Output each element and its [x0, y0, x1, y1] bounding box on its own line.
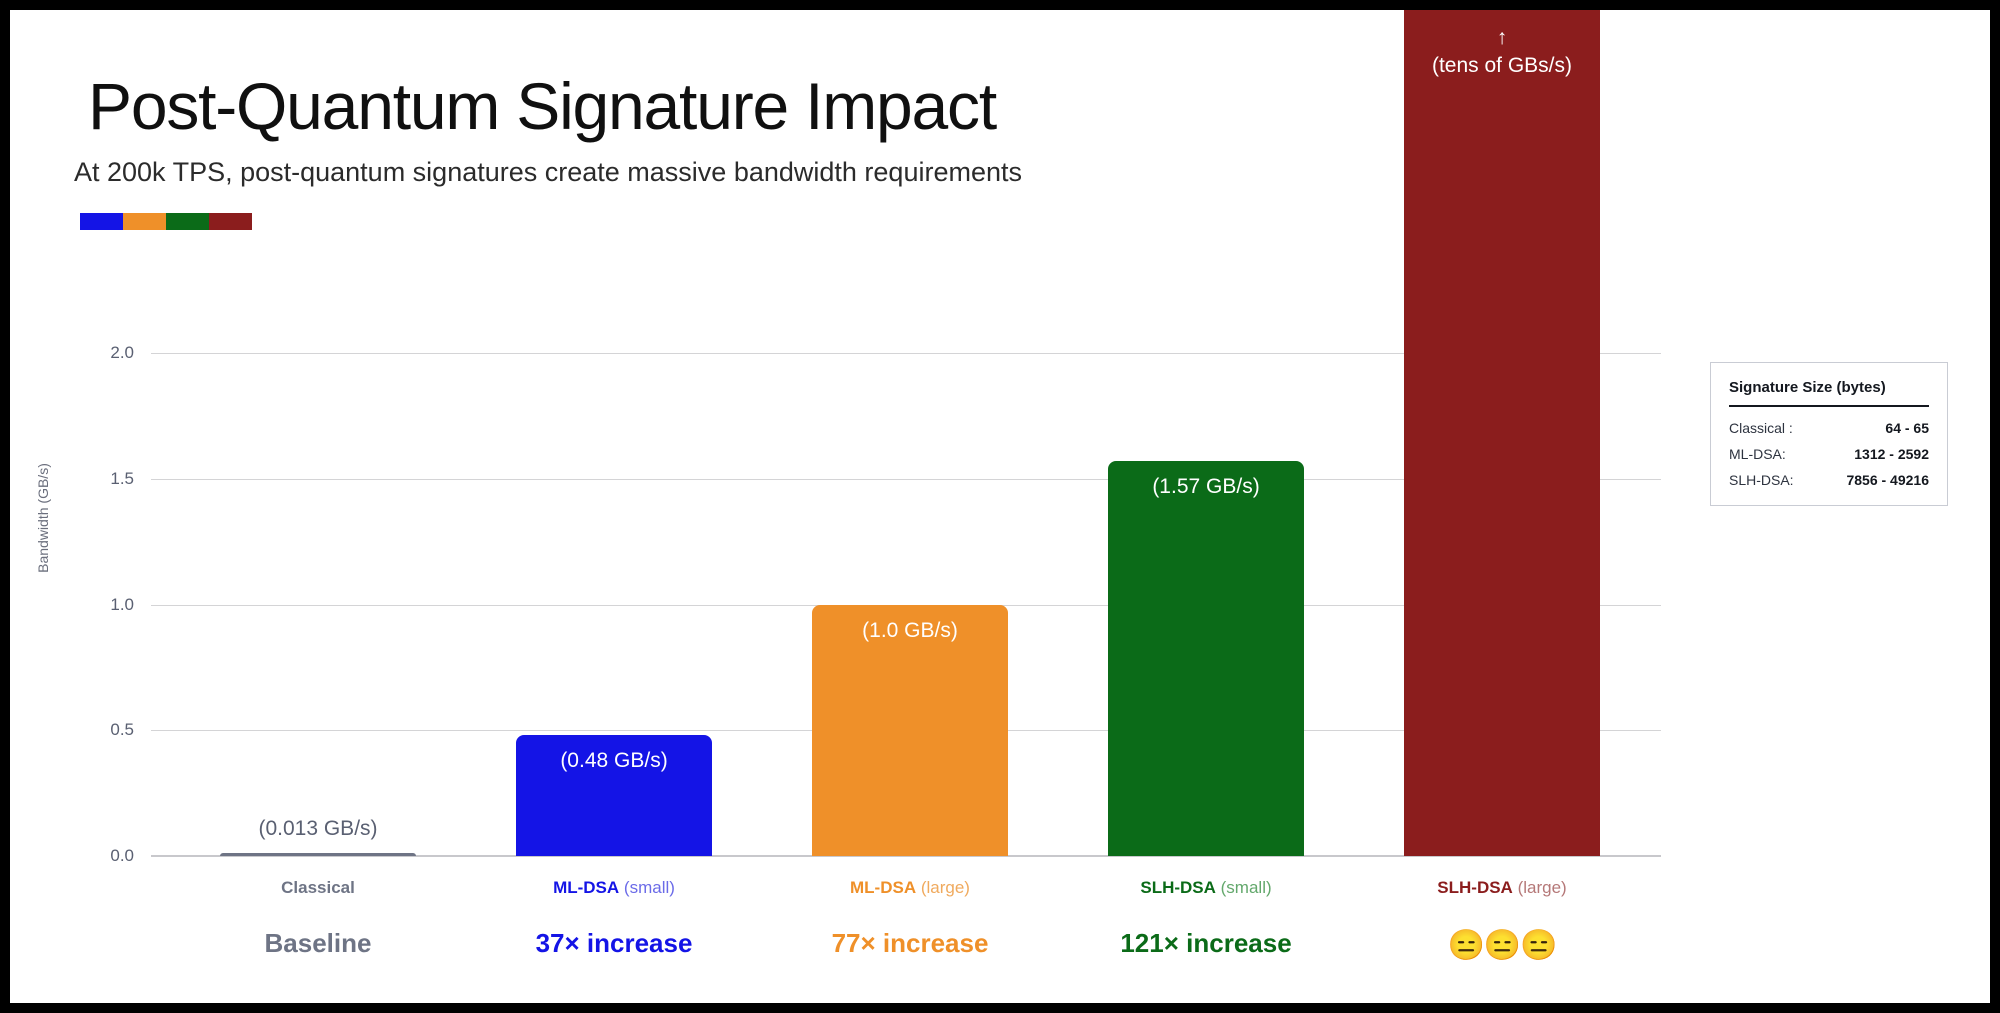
category-name: ML-DSA: [553, 878, 619, 897]
category-name: ML-DSA: [850, 878, 916, 897]
legend-rows: Classical :64 - 65ML-DSA:1312 - 2592SLH-…: [1729, 411, 1929, 489]
y-axis-tick: 1.0: [88, 595, 134, 615]
bar-value-label: (1.57 GB/s): [1108, 475, 1304, 499]
legend-row: SLH-DSA:7856 - 49216: [1729, 463, 1929, 489]
bar-value-label: (tens of GBs/s): [1404, 52, 1600, 80]
category-name: SLH-DSA: [1140, 878, 1216, 897]
bar-3[interactable]: (1.57 GB/s): [1108, 461, 1304, 856]
legend-title: Signature Size (bytes): [1729, 379, 1929, 405]
bar-1[interactable]: (0.48 GB/s): [516, 735, 712, 856]
bar-2[interactable]: (1.0 GB/s): [812, 605, 1008, 857]
y-axis-tick: 0.0: [88, 846, 134, 866]
slide-frame: Post-Quantum Signature Impact At 200k TP…: [10, 10, 1990, 1003]
y-axis-tick: 1.5: [88, 469, 134, 489]
legend-row-value: 64 - 65: [1885, 420, 1929, 436]
bar-value-label: (1.0 GB/s): [812, 619, 1008, 643]
y-axis-label: Bandwidth (GB/s): [35, 463, 51, 573]
legend-row-key: SLH-DSA:: [1729, 472, 1794, 488]
y-axis-tick: 0.5: [88, 720, 134, 740]
legend-row: ML-DSA:1312 - 2592: [1729, 437, 1929, 463]
legend-row-key: Classical :: [1729, 420, 1793, 436]
bar-value-label: (0.48 GB/s): [516, 749, 712, 773]
y-axis-tick: 2.0: [88, 343, 134, 363]
arrow-up-icon: ↑: [1404, 24, 1600, 52]
legend-row-key: ML-DSA:: [1729, 446, 1786, 462]
category-variant: (small): [1216, 878, 1272, 897]
category-variant: (large): [916, 878, 970, 897]
signature-size-legend: Signature Size (bytes) Classical :64 - 6…: [1710, 362, 1948, 506]
legend-divider: [1729, 405, 1929, 407]
bar-value-label: (0.013 GB/s): [158, 817, 478, 841]
legend-row: Classical :64 - 65: [1729, 411, 1929, 437]
category-name: SLH-DSA: [1437, 878, 1513, 897]
increase-factor-label: 😑😑😑: [1282, 928, 1722, 963]
bar-overflow-note: ↑(tens of GBs/s): [1404, 24, 1600, 81]
bar-4[interactable]: ↑(tens of GBs/s): [1404, 10, 1600, 856]
legend-row-value: 7856 - 49216: [1846, 472, 1929, 488]
bar-chart: Bandwidth (GB/s) 0.00.51.01.52.0(0.013 G…: [10, 10, 1990, 1003]
legend-row-value: 1312 - 2592: [1854, 446, 1929, 462]
x-axis-category-label: SLH-DSA (large): [1322, 878, 1682, 898]
category-variant: (large): [1513, 878, 1567, 897]
bar-0[interactable]: [220, 853, 416, 856]
category-variant: (small): [619, 878, 675, 897]
category-name: Classical: [281, 878, 355, 897]
